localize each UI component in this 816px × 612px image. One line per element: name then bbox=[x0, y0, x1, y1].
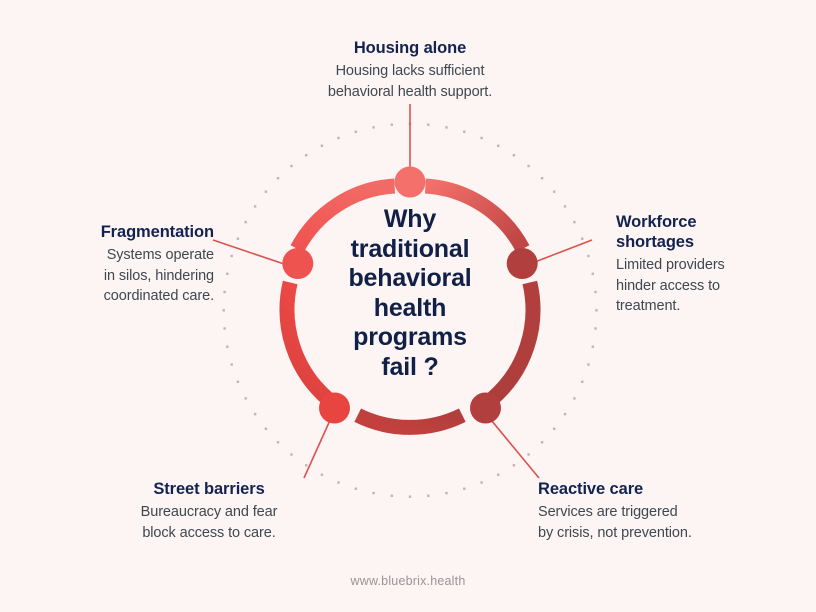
node-housing-alone[interactable] bbox=[395, 167, 426, 198]
footer-url[interactable]: www.bluebrix.health bbox=[0, 574, 816, 588]
callout-desc-line: Limited providers bbox=[616, 255, 776, 276]
arc-street-to-fragmentation bbox=[287, 283, 328, 400]
callout-fragmentation: Fragmentation Systems operate in silos, … bbox=[48, 222, 214, 307]
callout-title-housing-alone: Housing alone bbox=[296, 38, 524, 58]
callout-title-line: shortages bbox=[616, 232, 776, 252]
callout-desc-line: by crisis, not prevention. bbox=[538, 523, 738, 544]
callout-desc-line: treatment. bbox=[616, 296, 776, 317]
callout-title-fragmentation: Fragmentation bbox=[48, 222, 214, 242]
callout-desc-line: behavioral health support. bbox=[296, 82, 524, 103]
callout-desc-line: block access to care. bbox=[110, 523, 308, 544]
arc-reactive-to-street bbox=[358, 415, 463, 427]
ring-arcs bbox=[287, 186, 533, 427]
node-fragmentation[interactable] bbox=[282, 248, 313, 279]
callout-desc-line: Housing lacks sufficient bbox=[296, 61, 524, 82]
callout-desc-line: Systems operate bbox=[48, 245, 214, 266]
callout-desc-housing-alone: Housing lacks sufficient behavioral heal… bbox=[296, 61, 524, 102]
node-workforce-shortages[interactable] bbox=[507, 248, 538, 279]
callout-street-barriers: Street barriers Bureaucracy and fear blo… bbox=[110, 479, 308, 543]
callout-desc-line: in silos, hindering bbox=[48, 266, 214, 287]
callout-desc-workforce-shortages: Limited providers hinder access to treat… bbox=[616, 255, 776, 317]
callout-title-street-barriers: Street barriers bbox=[110, 479, 308, 499]
node-reactive-care[interactable] bbox=[470, 393, 501, 424]
infographic-canvas: Why traditional behavioral health progra… bbox=[0, 0, 816, 612]
callout-desc-reactive-care: Services are triggered by crisis, not pr… bbox=[538, 502, 738, 543]
arc-fragmentation-to-housing bbox=[297, 186, 394, 249]
callout-housing-alone: Housing alone Housing lacks sufficient b… bbox=[296, 38, 524, 102]
callout-workforce-shortages: Workforce shortages Limited providers hi… bbox=[616, 212, 776, 317]
connector-line-fragmentation bbox=[213, 240, 290, 266]
callout-desc-street-barriers: Bureaucracy and fear block access to car… bbox=[110, 502, 308, 543]
node-street-barriers[interactable] bbox=[319, 393, 350, 424]
callout-reactive-care: Reactive care Services are triggered by … bbox=[538, 479, 738, 543]
callout-desc-fragmentation: Systems operate in silos, hindering coor… bbox=[48, 245, 214, 307]
callout-title-reactive-care: Reactive care bbox=[538, 479, 738, 499]
callout-desc-line: Bureaucracy and fear bbox=[110, 502, 308, 523]
arc-housing-to-workforce bbox=[425, 186, 522, 249]
callout-desc-line: hinder access to bbox=[616, 276, 776, 297]
arc-workforce-to-reactive bbox=[492, 283, 533, 400]
callout-title-workforce-shortages: Workforce shortages bbox=[616, 212, 776, 252]
callout-title-line: Workforce bbox=[616, 212, 776, 232]
callout-desc-line: coordinated care. bbox=[48, 286, 214, 307]
callout-desc-line: Services are triggered bbox=[538, 502, 738, 523]
